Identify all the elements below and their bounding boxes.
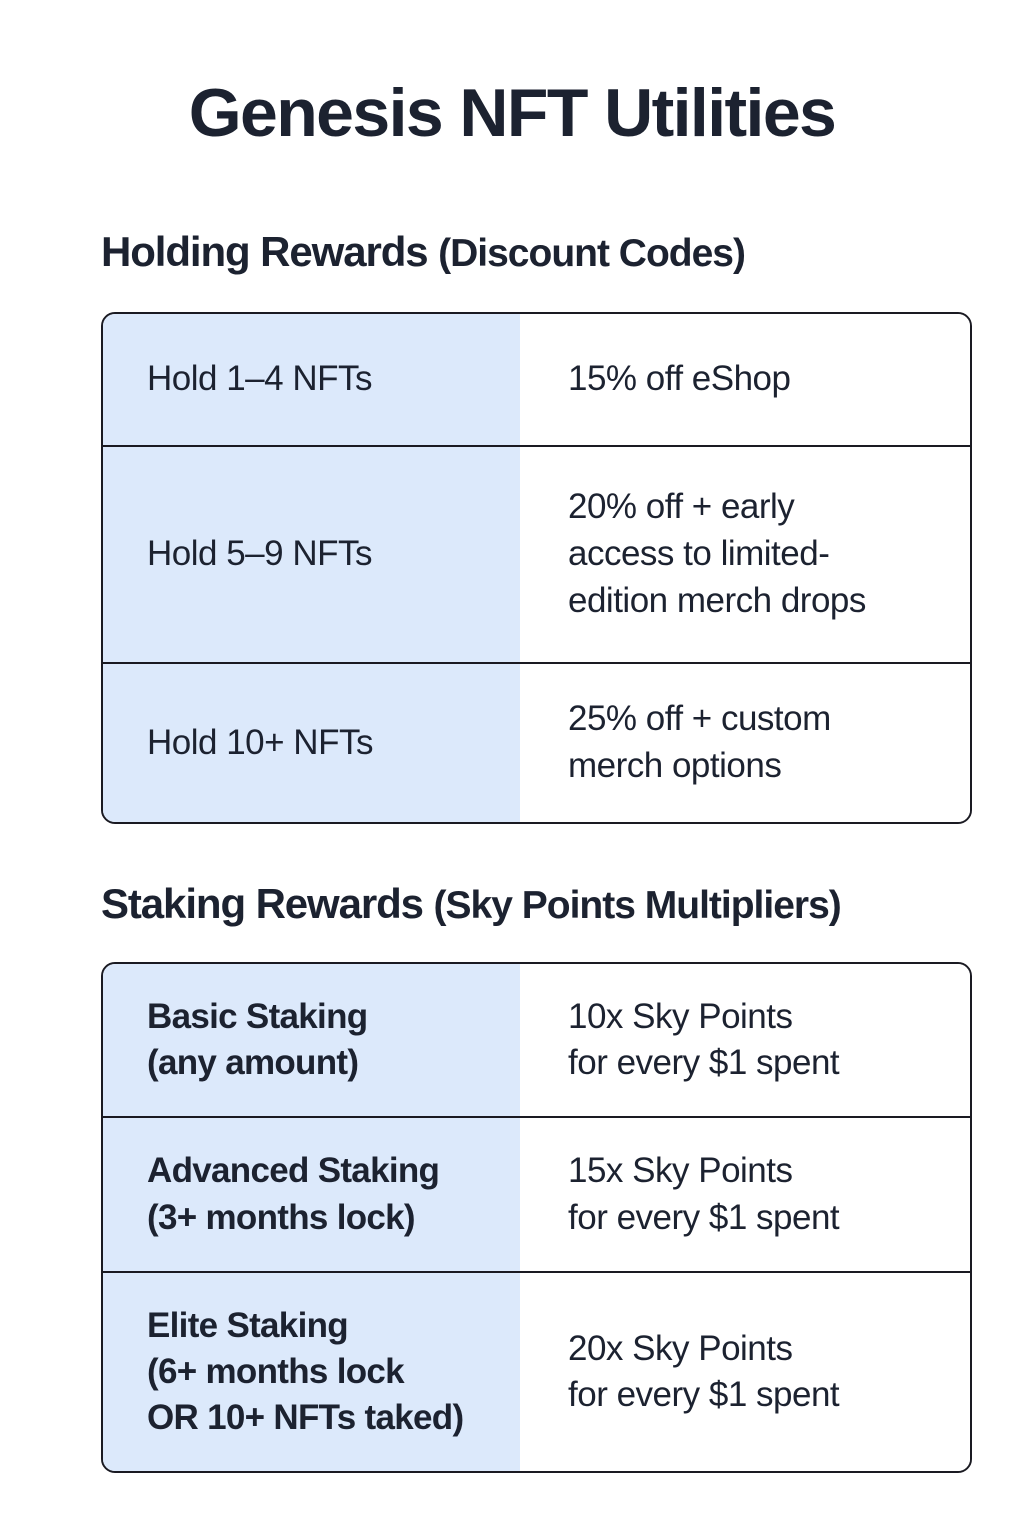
tier-line: (any amount): [147, 1040, 502, 1086]
reward-line: merch options: [568, 743, 948, 790]
tier-cell: Hold 10+ NFTs: [103, 664, 520, 822]
section-heading-holding-sub: (Discount Codes): [438, 232, 745, 275]
tier-line: (3+ months lock): [147, 1195, 502, 1241]
tier-cell: Hold 5–9 NFTs: [103, 447, 520, 662]
table-row: Hold 5–9 NFTs 20% off + early access to …: [103, 447, 970, 664]
tier-line: Elite Staking: [147, 1303, 502, 1349]
reward-line: for every $1 spent: [568, 1372, 948, 1418]
tier-line: OR 10+ NFTs taked): [147, 1395, 502, 1441]
tier-line: Advanced Staking: [147, 1148, 502, 1194]
tier-line: Hold 5–9 NFTs: [147, 531, 502, 578]
tier-cell: Advanced Staking (3+ months lock): [103, 1118, 520, 1270]
holding-rewards-table: Hold 1–4 NFTs 15% off eShop Hold 5–9 NFT…: [101, 312, 972, 824]
reward-line: for every $1 spent: [568, 1040, 948, 1086]
infographic-page: Genesis NFT Utilities Holding Rewards (D…: [0, 0, 1024, 1536]
section-heading-holding-main: Holding Rewards: [101, 228, 428, 275]
reward-line: 20% off + early: [568, 484, 948, 531]
section-heading-holding: Holding Rewards (Discount Codes): [101, 228, 981, 276]
tier-line: Hold 10+ NFTs: [147, 720, 502, 767]
tier-line: Basic Staking: [147, 994, 502, 1040]
reward-line: 25% off + custom: [568, 696, 948, 743]
reward-line: for every $1 spent: [568, 1195, 948, 1241]
reward-cell: 20% off + early access to limited- editi…: [520, 447, 970, 662]
table-row: Hold 10+ NFTs 25% off + custom merch opt…: [103, 664, 970, 822]
reward-cell: 15% off eShop: [520, 314, 970, 445]
reward-cell: 20x Sky Points for every $1 spent: [520, 1273, 970, 1472]
tier-line: (6+ months lock: [147, 1349, 502, 1395]
reward-cell: 10x Sky Points for every $1 spent: [520, 964, 970, 1116]
reward-line: 15x Sky Points: [568, 1148, 948, 1194]
reward-line: 15% off eShop: [568, 356, 948, 403]
section-heading-staking-main: Staking Rewards: [101, 880, 423, 927]
table-row: Advanced Staking (3+ months lock) 15x Sk…: [103, 1118, 970, 1272]
reward-cell: 15x Sky Points for every $1 spent: [520, 1118, 970, 1270]
section-heading-staking: Staking Rewards (Sky Points Multipliers): [101, 880, 981, 928]
reward-line: access to limited-: [568, 531, 948, 578]
section-heading-staking-sub: (Sky Points Multipliers): [434, 884, 841, 927]
reward-line: 10x Sky Points: [568, 994, 948, 1040]
tier-cell: Basic Staking (any amount): [103, 964, 520, 1116]
table-row: Hold 1–4 NFTs 15% off eShop: [103, 314, 970, 447]
tier-cell: Hold 1–4 NFTs: [103, 314, 520, 445]
staking-rewards-table: Basic Staking (any amount) 10x Sky Point…: [101, 962, 972, 1473]
reward-line: edition merch drops: [568, 578, 948, 625]
tier-cell: Elite Staking (6+ months lock OR 10+ NFT…: [103, 1273, 520, 1472]
tier-line: Hold 1–4 NFTs: [147, 356, 502, 403]
reward-cell: 25% off + custom merch options: [520, 664, 970, 822]
page-title: Genesis NFT Utilities: [0, 78, 1024, 149]
reward-line: 20x Sky Points: [568, 1326, 948, 1372]
table-row: Basic Staking (any amount) 10x Sky Point…: [103, 964, 970, 1118]
table-row: Elite Staking (6+ months lock OR 10+ NFT…: [103, 1273, 970, 1472]
